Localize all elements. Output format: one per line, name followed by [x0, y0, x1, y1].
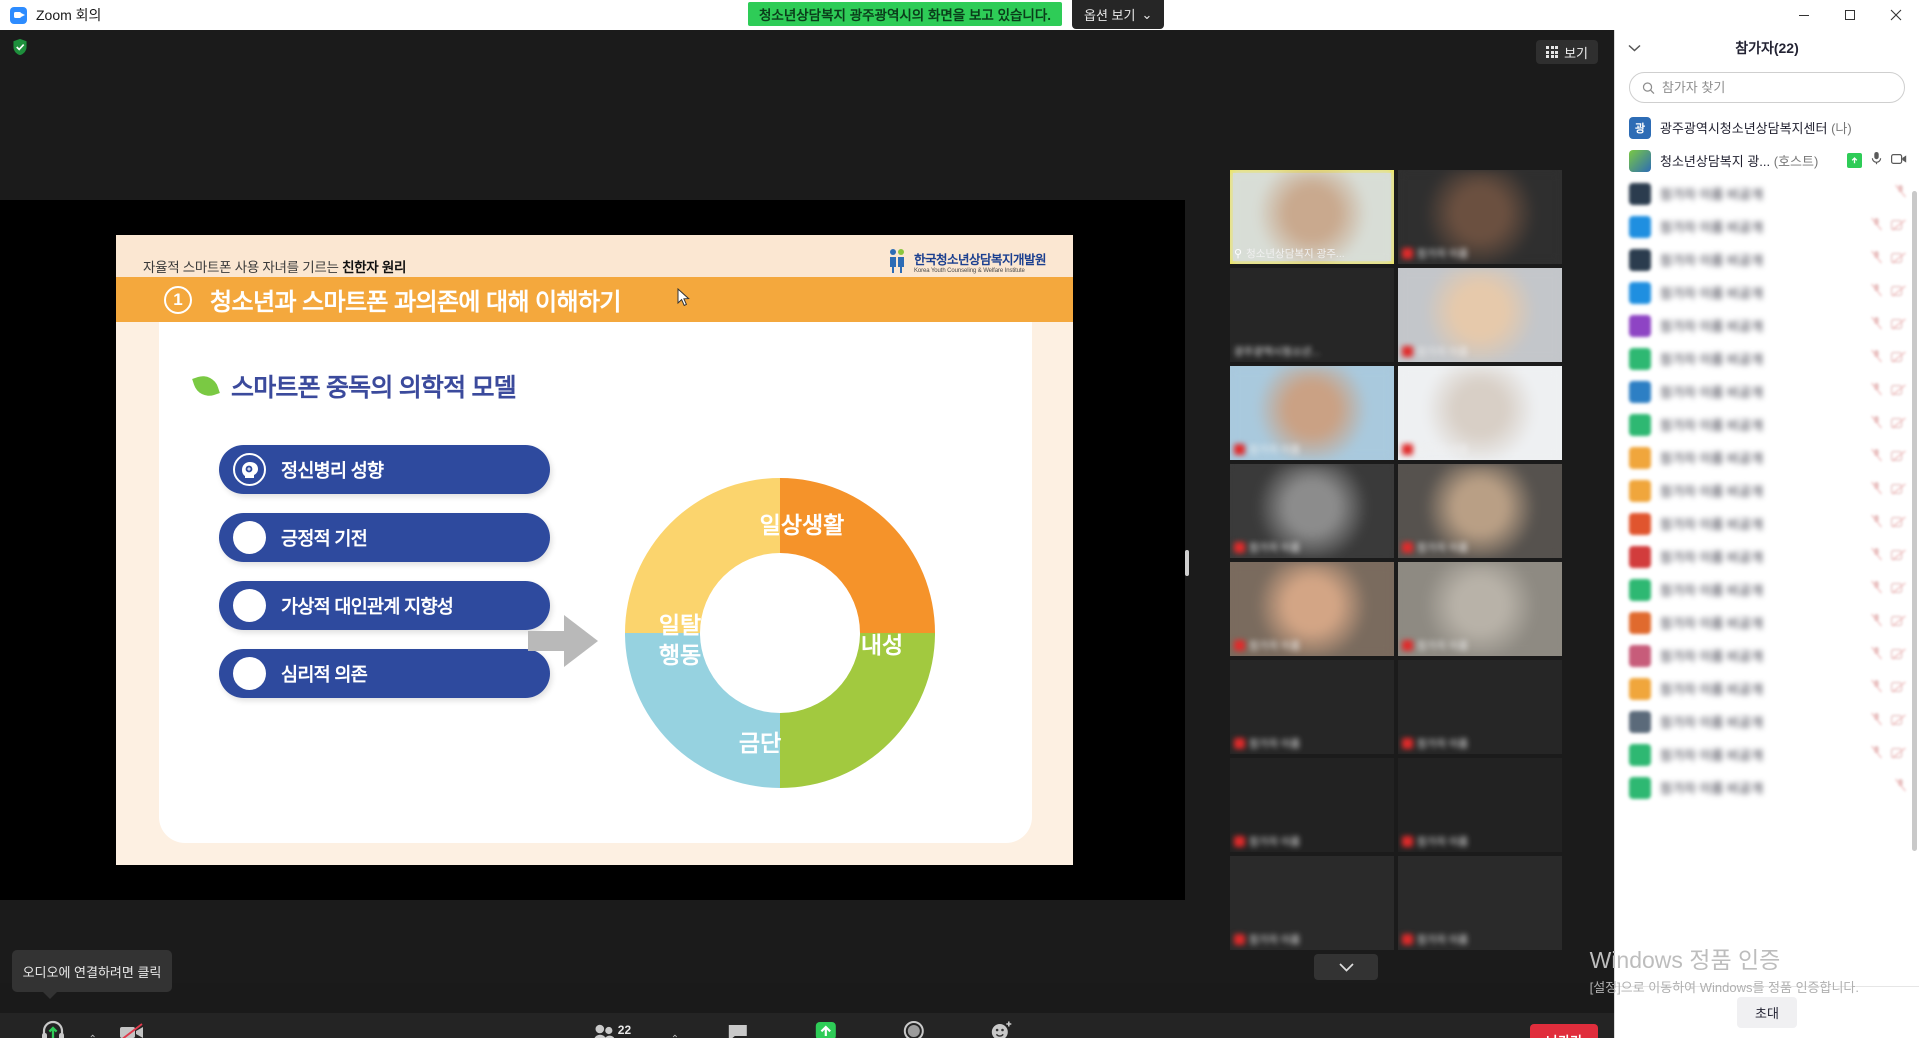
maximize-icon [1844, 9, 1856, 21]
avatar [1629, 348, 1651, 370]
participant-row[interactable]: 참가자 이름 비공개 [1615, 342, 1919, 375]
camera-muted-icon[interactable] [1891, 482, 1907, 500]
thumbnail-name-label: 참가자 이름 [1234, 638, 1390, 653]
participants-panel-footer: 초대 [1615, 986, 1919, 1038]
people-count-glyph: 22 [593, 1022, 631, 1038]
participant-status-icons [1870, 217, 1907, 236]
participant-role-suffix: (나) [1827, 121, 1851, 136]
mic-muted-icon[interactable] [1870, 580, 1883, 599]
institute-logo-text: 한국청소년상담복지개발원 Korea Youth Counseling & We… [914, 249, 1046, 274]
chart-segment-2 [625, 633, 780, 788]
chat-button[interactable]: 채팅 [709, 1020, 767, 1038]
avatar [1629, 612, 1651, 634]
mic-muted-icon [1402, 542, 1413, 553]
leaf-icon [192, 372, 220, 400]
mic-muted-icon[interactable] [1870, 448, 1883, 467]
participant-row[interactable]: 참가자 이름 비공개 [1615, 441, 1919, 474]
participant-status-icons [1870, 745, 1907, 764]
share-screen-icon [814, 1020, 838, 1038]
participant-status-icons [1870, 415, 1907, 434]
avatar [1629, 744, 1651, 766]
participant-row[interactable]: 참가자 이름 비공개 [1615, 474, 1919, 507]
mic-muted-icon [1402, 934, 1413, 945]
section-number-badge: 1 [164, 286, 192, 314]
security-shield-icon [9, 36, 31, 58]
video-thumbnail[interactable]: 참가자 이름 [1398, 758, 1562, 852]
view-layout-label: 보기 [1564, 43, 1588, 62]
avatar: 광 [1629, 117, 1651, 139]
shield-check-glyph [11, 38, 29, 56]
participant-status-icons [1847, 151, 1907, 170]
circle-icon [233, 589, 266, 622]
participant-status-icons [1870, 613, 1907, 632]
record-glyph [903, 1020, 925, 1038]
model-factor-list: 정신병리 성향 긍정적 기전 가상적 대인관계 지향성 심리적 의존 [219, 445, 550, 717]
participant-name: 참가자 이름 비공개 [1660, 547, 1861, 566]
mic-muted-icon [1402, 836, 1413, 847]
cursor-arrow-icon [677, 288, 690, 307]
slide-section-bar: 1 청소년과 스마트폰 과의존에 대해 이해하기 [116, 277, 1073, 322]
mouse-cursor [677, 288, 690, 312]
chevron-down-icon[interactable] [1628, 41, 1641, 55]
avatar [1629, 546, 1651, 568]
avatar [1629, 645, 1651, 667]
camera-muted-icon[interactable] [1891, 416, 1907, 434]
camera-off-icon [119, 1020, 145, 1038]
mic-muted-icon[interactable] [1870, 679, 1883, 698]
mic-muted-icon [1402, 640, 1413, 651]
toolbar-left-group: 오디오 연결 ⌃ 비디오 시작 [0, 1020, 165, 1038]
mic-muted-icon[interactable] [1870, 349, 1883, 368]
avatar [1629, 249, 1651, 271]
participant-row[interactable]: 참가자 이름 비공개 [1615, 177, 1919, 210]
participant-row[interactable]: 참가자 이름 비공개 [1615, 573, 1919, 606]
participant-name: 참가자 이름 비공개 [1660, 481, 1861, 500]
svg-text:22: 22 [618, 1023, 631, 1037]
participant-status-icons [1870, 712, 1907, 731]
institute-name-ko: 한국청소년상담복지개발원 [914, 249, 1046, 268]
thumbnail-name-label: 참가자 이름 [1402, 540, 1558, 555]
avatar [1629, 447, 1651, 469]
factor-label: 가상적 대인관계 지향성 [281, 593, 453, 619]
search-input[interactable] [1662, 80, 1892, 95]
join-audio-tooltip: 오디오에 연결하려면 클릭 [12, 950, 172, 992]
avatar [1629, 150, 1651, 172]
participants-caret-icon[interactable]: ⌃ [671, 1034, 679, 1038]
minimize-icon [1798, 9, 1810, 21]
share-screen-button[interactable]: 화면 공유 [797, 1020, 855, 1038]
mic-muted-icon [1234, 738, 1245, 749]
participant-name: 청소년상담복지 광... (호스트) [1660, 151, 1838, 170]
window-title: Zoom 회의 [36, 5, 101, 25]
share-banner-text: 청소년상담복지 광주광역시의 화면을 보고 있습니다. [759, 4, 1051, 24]
avatar [1629, 711, 1651, 733]
screen-share-banner: 청소년상담복지 광주광역시의 화면을 보고 있습니다. [748, 2, 1062, 26]
participant-status-icons [1870, 283, 1907, 302]
window-titlebar: Zoom 회의 청소년상담복지 광주광역시의 화면을 보고 있습니다. 옵션 보… [0, 0, 1919, 30]
participant-status-icons [1870, 514, 1907, 533]
participant-name: 참가자 이름 비공개 [1660, 448, 1861, 467]
mic-muted-icon [1402, 346, 1413, 357]
participant-row[interactable]: 참가자 이름 비공개 [1615, 276, 1919, 309]
camera-muted-icon[interactable] [1891, 350, 1907, 368]
camera-muted-icon[interactable] [1891, 449, 1907, 467]
thumbnail-name-label: 참가자 이름 [1402, 638, 1558, 653]
mic-muted-icon[interactable] [1870, 547, 1883, 566]
thumbnail-name-label: 참가자 이름 [1234, 442, 1390, 457]
chart-segment-3 [625, 478, 780, 633]
avatar [1629, 480, 1651, 502]
mic-muted-icon[interactable] [1870, 382, 1883, 401]
thumbnail-name-label: 참가자 이름 [1234, 834, 1390, 849]
zoom-meeting-window: Zoom 회의 청소년상담복지 광주광역시의 화면을 보고 있습니다. 옵션 보… [0, 0, 1919, 1038]
participant-row[interactable]: 참가자 이름 비공개 [1615, 771, 1919, 804]
participant-name: 참가자 이름 비공개 [1660, 514, 1861, 533]
smiley-plus-glyph [990, 1020, 1014, 1038]
participant-name: 참가자 이름 비공개 [1660, 613, 1861, 632]
mic-muted-icon [1234, 640, 1245, 651]
participant-status-icons [1870, 679, 1907, 698]
thumbnail-name-label: 광주광역시청소년... [1234, 344, 1390, 359]
chart-segment-0 [780, 478, 935, 633]
participant-name: 참가자 이름 비공개 [1660, 283, 1861, 302]
chart-label-2: 금단 [739, 730, 781, 756]
participant-row[interactable]: 참가자 이름 비공개 [1615, 540, 1919, 573]
addiction-cycle-chart: 일상생활 내성 금단 일탈 행동 [610, 463, 950, 803]
thumbnail-name-label: 참가자 이름 [1402, 442, 1558, 457]
participant-name: 참가자 이름 비공개 [1660, 415, 1861, 434]
video-thumbnail[interactable]: 참가자 이름 [1398, 464, 1562, 558]
avatar [1629, 777, 1651, 799]
thumbnail-name-label: 참가자 이름 [1402, 834, 1558, 849]
participant-status-icons [1870, 316, 1907, 335]
participant-status-icons [1870, 250, 1907, 269]
participant-status-icons [1870, 382, 1907, 401]
thumbnail-name-label: 참가자 이름 [1234, 540, 1390, 555]
mic-muted-icon[interactable] [1870, 745, 1883, 764]
avatar [1629, 414, 1651, 436]
chevron-down-icon: ⌄ [1141, 7, 1152, 23]
camera-muted-icon[interactable] [1891, 383, 1907, 401]
toolbar-center-group: 22 참가자 ⌃ 채팅 [583, 1020, 1031, 1038]
audio-options-caret-icon[interactable]: ⌃ [89, 1034, 97, 1038]
participants-list[interactable]: 광광주광역시청소년상담복지센터 (나)청소년상담복지 광... (호스트)참가자… [1615, 111, 1919, 871]
reaction-smiley-icon [990, 1020, 1014, 1038]
video-thumbnail[interactable]: 참가자 이름 [1230, 366, 1394, 460]
avatar [1629, 513, 1651, 535]
slide-subtitle-row: 스마트폰 중독의 의학적 모델 [195, 368, 516, 404]
thumbnail-name-label: 참가자 이름 [1402, 736, 1558, 751]
participant-name: 참가자 이름 비공개 [1660, 778, 1885, 797]
participant-row[interactable]: 청소년상담복지 광... (호스트) [1615, 144, 1919, 177]
circle-icon [233, 521, 266, 554]
mic-muted-icon [1234, 934, 1245, 945]
participants-button[interactable]: 22 참가자 [583, 1020, 641, 1038]
participant-row[interactable]: 참가자 이름 비공개 [1615, 408, 1919, 441]
participant-row[interactable]: 참가자 이름 비공개 [1615, 210, 1919, 243]
close-icon [1890, 9, 1902, 21]
maximize-button[interactable] [1827, 0, 1873, 30]
chart-label-0: 일상생활 [760, 512, 845, 538]
avatar [1629, 282, 1651, 304]
thumbnail-name-label: 참가자 이름 [1234, 736, 1390, 751]
participant-status-icons [1870, 646, 1907, 665]
shared-content-area: 자율적 스마트폰 사용 자녀를 기르는 친한자 원리 한국청소년상담복지개발원 … [0, 200, 1185, 900]
head-plus-glyph [238, 458, 262, 482]
close-button[interactable] [1873, 0, 1919, 30]
search-icon [1642, 81, 1655, 95]
mic-muted-icon[interactable] [1870, 250, 1883, 269]
mic-muted-icon[interactable] [1894, 184, 1907, 203]
avatar [1629, 315, 1651, 337]
thumbnail-name-label: 참가자 이름 [1402, 344, 1558, 359]
thumbnail-name-label: 참가자 이름 [1402, 932, 1558, 947]
shared-screen-stage: 보기 자율적 스마트폰 사용 자녀를 기르는 친한자 원리 [0, 30, 1614, 983]
leave-meeting-button[interactable]: 나가기 [1530, 1024, 1598, 1038]
participant-row[interactable]: 참가자 이름 비공개 [1615, 375, 1919, 408]
video-thumbnail[interactable]: 참가자 이름 [1398, 170, 1562, 264]
view-options-label: 옵션 보기 [1084, 5, 1135, 24]
list-item: 심리적 의존 [219, 649, 550, 698]
video-thumbnail[interactable]: 참가자 이름 [1230, 562, 1394, 656]
camera-muted-icon[interactable] [1891, 581, 1907, 599]
video-thumbnail[interactable]: 참가자 이름 [1398, 660, 1562, 754]
panel-resize-handle[interactable] [1185, 550, 1189, 576]
mic-muted-icon [1234, 836, 1245, 847]
list-item: 정신병리 성향 [219, 445, 550, 494]
participant-status-icons [1870, 580, 1907, 599]
chat-bubble-glyph [727, 1023, 749, 1038]
mic-muted-icon[interactable] [1870, 481, 1883, 500]
view-options-button[interactable]: 옵션 보기 ⌄ [1072, 0, 1164, 29]
camera-muted-icon[interactable] [1891, 251, 1907, 269]
chevron-down-icon [1338, 962, 1355, 973]
mic-muted-icon[interactable] [1870, 217, 1883, 236]
arrow-tail [528, 631, 568, 651]
participant-name: 참가자 이름 비공개 [1660, 745, 1861, 764]
avatar [1629, 678, 1651, 700]
participant-row[interactable]: 참가자 이름 비공개 [1615, 738, 1919, 771]
factor-label: 긍정적 기전 [281, 525, 367, 551]
camera-muted-icon[interactable] [1891, 284, 1907, 302]
app-identity: Zoom 회의 [0, 5, 101, 25]
participant-name: 참가자 이름 비공개 [1660, 580, 1861, 599]
head-plus-icon [233, 453, 266, 486]
participant-row[interactable]: 참가자 이름 비공개 [1615, 672, 1919, 705]
camera-muted-icon[interactable] [1891, 317, 1907, 335]
grid-icon [1546, 46, 1558, 58]
chart-label-1: 내성 [861, 632, 903, 658]
participant-row[interactable]: 광광주광역시청소년상담복지센터 (나) [1615, 111, 1919, 144]
record-circle-icon [903, 1020, 925, 1038]
participants-panel-title: 참가자(22) [1735, 38, 1799, 58]
factor-label: 심리적 의존 [281, 661, 367, 687]
participant-status-icons [1870, 547, 1907, 566]
slide-kicker-prefix: 자율적 스마트폰 사용 자녀를 기르는 [143, 260, 342, 275]
participant-name: 참가자 이름 비공개 [1660, 316, 1861, 335]
thumbnail-name-label: 참가자 이름 [1402, 246, 1558, 261]
participant-row[interactable]: 참가자 이름 비공개 [1615, 705, 1919, 738]
camera-muted-icon[interactable] [1891, 647, 1907, 665]
arrow-right-icon [564, 615, 598, 667]
reactions-button[interactable]: 반응 [973, 1020, 1031, 1038]
mic-muted-icon[interactable] [1870, 712, 1883, 731]
thumbnail-scroll-down-button[interactable] [1314, 954, 1378, 980]
avatar [1629, 183, 1651, 205]
camera-muted-icon[interactable] [1891, 614, 1907, 632]
camera-muted-icon[interactable] [1891, 548, 1907, 566]
chart-label-3-line2: 행동 [659, 642, 701, 668]
mic-muted-icon [1402, 248, 1413, 259]
chart-label-3-line1: 일탈 [659, 612, 701, 638]
avatar [1629, 216, 1651, 238]
participant-status-icons [1870, 481, 1907, 500]
participant-name: 광주광역시청소년상담복지센터 (나) [1660, 118, 1898, 137]
participant-row[interactable]: 참가자 이름 비공개 [1615, 309, 1919, 342]
zoom-logo-icon [10, 7, 27, 24]
minimize-button[interactable] [1781, 0, 1827, 30]
mic-muted-icon[interactable] [1870, 514, 1883, 533]
chart-segment-1 [780, 633, 935, 788]
participant-row[interactable]: 참가자 이름 비공개 [1615, 606, 1919, 639]
participant-row[interactable]: 참가자 이름 비공개 [1615, 507, 1919, 540]
camera-muted-icon[interactable] [1891, 713, 1907, 731]
video-thumbnail-strip: ⚲청소년상담복지 광주...참가자 이름광주광역시청소년...참가자 이름참가자… [1230, 170, 1564, 940]
circle-icon [233, 657, 266, 690]
video-thumbnail[interactable]: 참가자 이름 [1398, 366, 1562, 460]
participant-role-suffix: (호스트) [1770, 154, 1818, 169]
institute-name-en: Korea Youth Counseling & Welfare Institu… [914, 268, 1046, 274]
thumbnail-grid: ⚲청소년상담복지 광주...참가자 이름광주광역시청소년...참가자 이름참가자… [1230, 170, 1564, 950]
participant-name: 참가자 이름 비공개 [1660, 712, 1861, 731]
mic-icon[interactable] [1870, 151, 1883, 170]
participant-name: 참가자 이름 비공개 [1660, 217, 1861, 236]
video-thumbnail[interactable]: 참가자 이름 [1398, 268, 1562, 362]
video-thumbnail[interactable]: 참가자 이름 [1230, 660, 1394, 754]
section-title: 청소년과 스마트폰 과의존에 대해 이해하기 [210, 282, 621, 317]
tooltip-text: 오디오에 연결하려면 클릭 [23, 962, 162, 981]
thumbnail-name-label: ⚲청소년상담복지 광주... [1234, 246, 1390, 261]
window-controls [1781, 0, 1919, 30]
mic-muted-icon [1402, 738, 1413, 749]
chat-bubble-icon [727, 1020, 749, 1038]
participant-name: 참가자 이름 비공개 [1660, 382, 1861, 401]
list-item: 긍정적 기전 [219, 513, 550, 562]
video-thumbnail[interactable]: ⚲청소년상담복지 광주... [1230, 170, 1394, 264]
slide-kicker-bold: 친한자 원리 [342, 260, 406, 275]
list-item: 가상적 대인관계 지향성 [219, 581, 550, 630]
participant-status-icons [1870, 448, 1907, 467]
video-thumbnail[interactable]: 참가자 이름 [1398, 856, 1562, 950]
view-layout-button[interactable]: 보기 [1536, 40, 1598, 64]
avatar [1629, 579, 1651, 601]
slide-subtitle: 스마트폰 중독의 의학적 모델 [231, 368, 516, 404]
participant-row[interactable]: 참가자 이름 비공개 [1615, 639, 1919, 672]
pin-icon: ⚲ [1234, 247, 1242, 260]
factor-label: 정신병리 성향 [281, 457, 383, 483]
participant-status-icons [1894, 778, 1907, 797]
headset-glyph [41, 1020, 65, 1038]
record-button[interactable]: 기록 [885, 1020, 943, 1038]
mic-muted-icon[interactable] [1870, 283, 1883, 302]
mic-muted-icon [1234, 444, 1245, 455]
video-thumbnail[interactable]: 광주광역시청소년... [1230, 268, 1394, 362]
camera-icon[interactable] [1891, 152, 1907, 170]
participant-name: 참가자 이름 비공개 [1660, 679, 1861, 698]
participant-name: 참가자 이름 비공개 [1660, 184, 1885, 203]
presentation-slide: 자율적 스마트폰 사용 자녀를 기르는 친한자 원리 한국청소년상담복지개발원 … [116, 235, 1073, 865]
institute-logo: 한국청소년상담복지개발원 Korea Youth Counseling & We… [886, 248, 1046, 274]
mic-muted-icon[interactable] [1870, 316, 1883, 335]
join-audio-button[interactable]: 오디오 연결 [20, 1020, 87, 1038]
participants-search-box[interactable] [1629, 72, 1905, 103]
invite-button[interactable]: 초대 [1737, 997, 1797, 1028]
camera-off-glyph [119, 1022, 145, 1038]
participant-name: 참가자 이름 비공개 [1660, 349, 1861, 368]
start-video-button[interactable]: 비디오 시작 [99, 1020, 166, 1038]
camera-muted-icon[interactable] [1891, 680, 1907, 698]
participant-status-icons [1870, 349, 1907, 368]
participants-panel-header: 참가자(22) [1615, 30, 1919, 66]
video-thumbnail[interactable]: 참가자 이름 [1230, 758, 1394, 852]
mic-muted-icon [1234, 542, 1245, 553]
participants-panel: 참가자(22) 광광주광역시청소년상담복지센터 (나)청소년상담복지 광... … [1614, 30, 1919, 1038]
mic-muted-icon[interactable] [1870, 415, 1883, 434]
people-icon: 22 [593, 1020, 631, 1038]
mic-muted-icon[interactable] [1894, 778, 1907, 797]
share-screen-glyph [814, 1020, 838, 1038]
slide-kicker: 자율적 스마트폰 사용 자녀를 기르는 친한자 원리 [116, 256, 406, 276]
video-thumbnail[interactable]: 참가자 이름 [1230, 856, 1394, 950]
mic-muted-icon[interactable] [1870, 613, 1883, 632]
toolbar-right-group: 나가기 [1530, 1024, 1598, 1038]
participant-status-icons [1894, 184, 1907, 203]
mic-muted-icon[interactable] [1870, 646, 1883, 665]
participant-name: 참가자 이름 비공개 [1660, 250, 1861, 269]
meeting-toolbar: 오디오 연결 ⌃ 비디오 시작 [0, 1013, 1614, 1038]
collapse-glyph [1628, 44, 1641, 52]
participant-row[interactable]: 참가자 이름 비공개 [1615, 243, 1919, 276]
video-thumbnail[interactable]: 참가자 이름 [1230, 464, 1394, 558]
sharing-screen-icon [1847, 153, 1862, 168]
institute-logo-icon [886, 248, 908, 274]
avatar [1629, 381, 1651, 403]
thumbnail-name-label: 참가자 이름 [1234, 932, 1390, 947]
camera-muted-icon[interactable] [1891, 515, 1907, 533]
camera-muted-icon[interactable] [1891, 218, 1907, 236]
video-thumbnail[interactable]: 참가자 이름 [1398, 562, 1562, 656]
participant-name: 참가자 이름 비공개 [1660, 646, 1861, 665]
mic-muted-icon [1402, 444, 1413, 455]
camera-muted-icon[interactable] [1891, 746, 1907, 764]
headset-join-audio-icon [41, 1020, 65, 1038]
